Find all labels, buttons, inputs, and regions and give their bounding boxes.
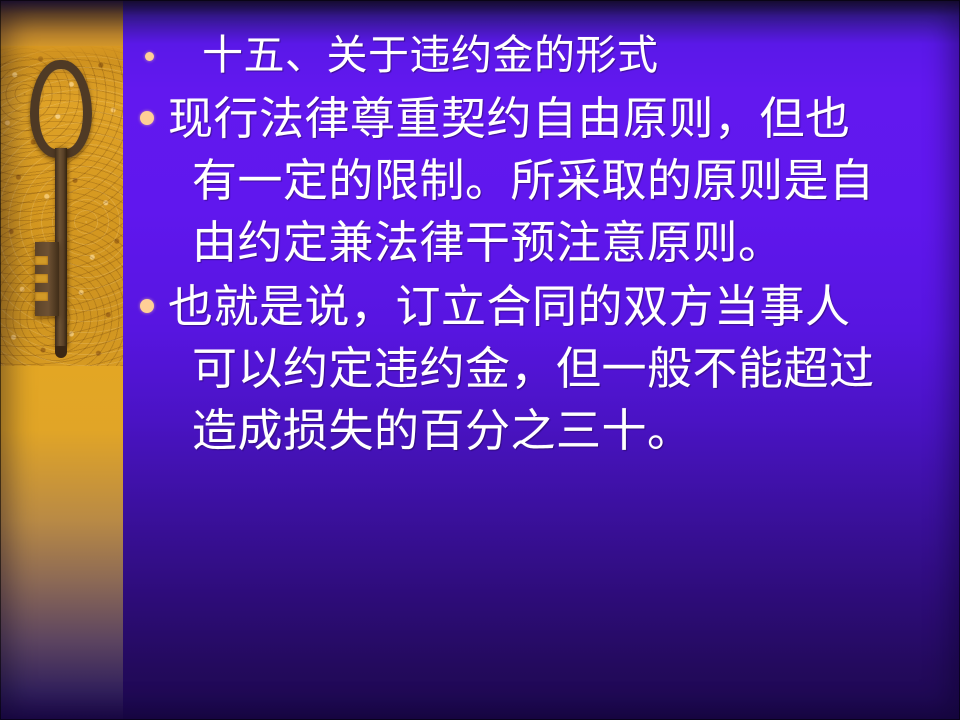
bullet-line: 现行法律尊重契约自由原则，但也 — [168, 88, 875, 150]
key-icon — [22, 60, 102, 360]
key-tooth — [35, 256, 48, 265]
bullet-line: 有一定的限制。所采取的原则是自 — [168, 150, 875, 212]
bullet-line: 造成损失的百分之三十。 — [168, 400, 875, 462]
presentation-slide: 十五、关于违约金的形式 现行法律尊重契约自由原则，但也 有一定的限制。所采取的原… — [0, 0, 960, 720]
bullet-item-1: 现行法律尊重契约自由原则，但也 有一定的限制。所采取的原则是自 由约定兼法律干预… — [129, 88, 942, 274]
key-tooth — [35, 274, 48, 283]
bullet-text-1: 现行法律尊重契约自由原则，但也 有一定的限制。所采取的原则是自 由约定兼法律干预… — [154, 88, 875, 274]
bullet-dot-icon — [140, 111, 154, 125]
bullet-text-2: 也就是说，订立合同的双方当事人 可以约定违约金，但一般不能超过 造成损失的百分之… — [154, 276, 875, 462]
bullet-line: 由约定兼法律干预注意原则。 — [168, 212, 875, 274]
bullet-list: 十五、关于违约金的形式 现行法律尊重契约自由原则，但也 有一定的限制。所采取的原… — [129, 24, 942, 462]
bullet-line: 也就是说，订立合同的双方当事人 — [168, 276, 875, 338]
bullet-dot-icon — [140, 299, 154, 313]
slide-title-row: 十五、关于违约金的形式 — [129, 24, 942, 86]
bullet-line: 可以约定违约金，但一般不能超过 — [168, 338, 875, 400]
key-bow — [30, 60, 92, 158]
sidebar-decoration — [0, 0, 123, 720]
key-shank-tip — [55, 346, 67, 358]
bullet-item-2: 也就是说，订立合同的双方当事人 可以约定违约金，但一般不能超过 造成损失的百分之… — [129, 276, 942, 462]
key-tooth — [35, 292, 48, 301]
slide-content: 十五、关于违约金的形式 现行法律尊重契约自由原则，但也 有一定的限制。所采取的原… — [123, 0, 960, 720]
bullet-dot-icon — [145, 52, 154, 61]
page-title: 十五、关于违约金的形式 — [154, 24, 659, 86]
